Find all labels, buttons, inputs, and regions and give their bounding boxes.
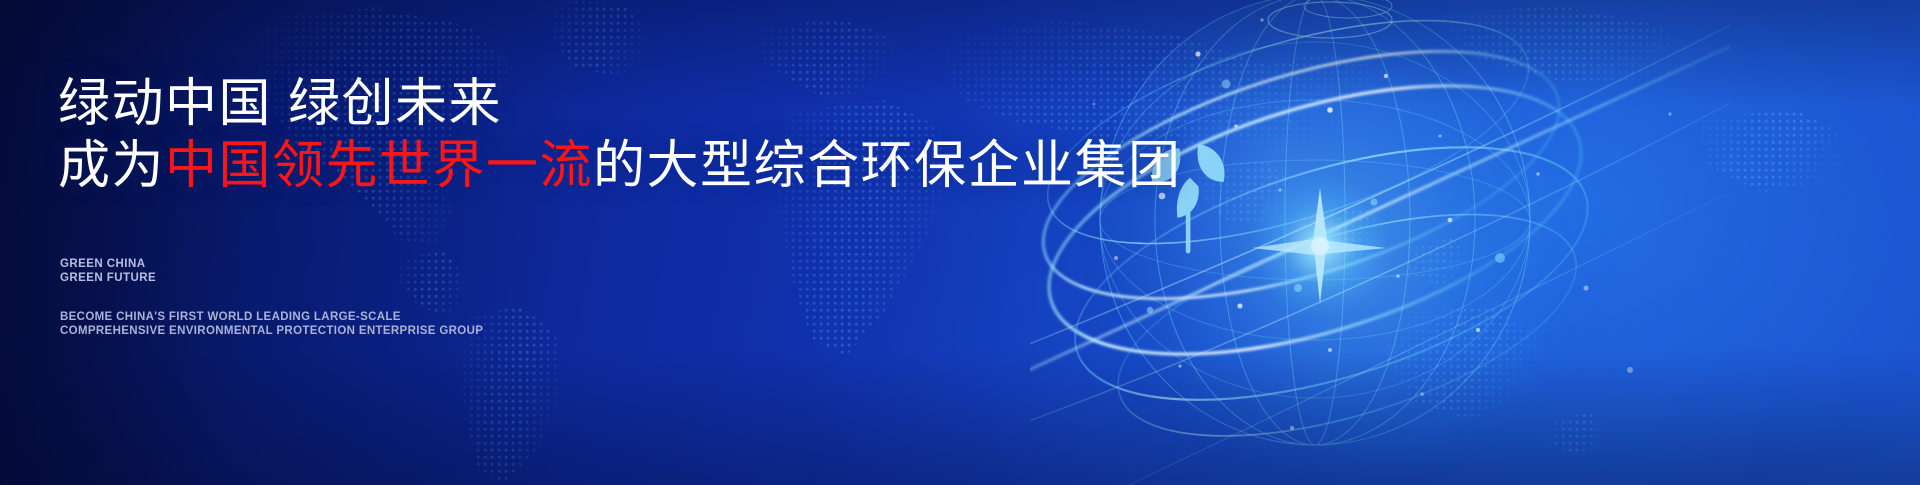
banner-copy: 绿动中国 绿创未来 成为中国领先世界一流的大型综合环保企业集团 GREEN CH… — [58, 0, 1058, 485]
headline-highlight: 中国领先世界一流 — [165, 137, 593, 195]
headline-prefix: 成为 — [58, 137, 165, 195]
english-slogan-line-2: GREEN FUTURE — [60, 272, 156, 286]
english-description-line-1: BECOME CHINA'S FIRST WORLD LEADING LARGE… — [60, 311, 483, 325]
globe-glow — [1090, 18, 1610, 478]
headline-line-2: 成为中国领先世界一流的大型综合环保企业集团 — [58, 140, 1182, 192]
globe-svg — [1030, 0, 1730, 485]
headline-suffix: 的大型综合环保企业集团 — [593, 137, 1182, 195]
english-description: BECOME CHINA'S FIRST WORLD LEADING LARGE… — [60, 311, 483, 338]
light-burst-icon — [1246, 172, 1394, 320]
headline-line-1: 绿动中国 绿创未来 — [58, 78, 502, 130]
globe-graphic — [1030, 0, 1730, 485]
english-description-line-2: COMPREHENSIVE ENVIRONMENTAL PROTECTION E… — [60, 325, 483, 339]
english-slogan-line-1: GREEN CHINA — [60, 258, 156, 272]
english-slogan: GREEN CHINA GREEN FUTURE — [60, 258, 156, 285]
hero-banner: 绿动中国 绿创未来 成为中国领先世界一流的大型综合环保企业集团 GREEN CH… — [0, 0, 1920, 485]
